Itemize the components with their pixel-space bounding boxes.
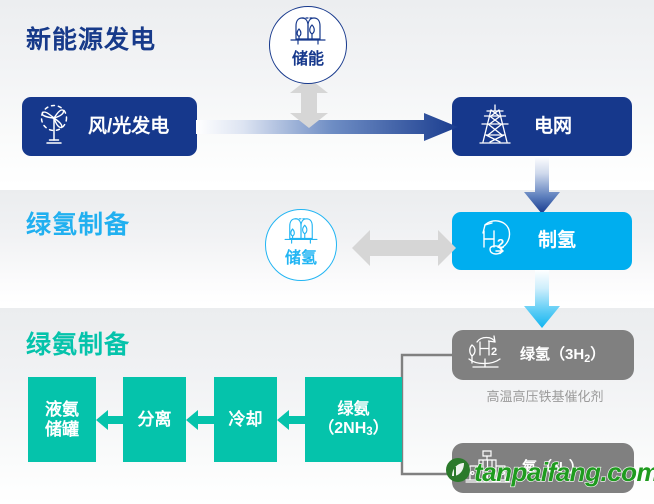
node-wind-solar-generation[interactable]: 风/光发电	[22, 97, 197, 156]
watermark-text: tanpaifang.com	[474, 457, 654, 488]
node-wind-solar-label: 风/光发电	[88, 116, 169, 138]
node-energy-storage-label: 储能	[292, 52, 324, 68]
node-green-ammonia[interactable]: 绿氨 （2NH3）	[305, 377, 402, 462]
node-hydrogen-storage-label: 储氢	[285, 251, 317, 267]
power-pylon-icon	[478, 103, 512, 151]
section-title-ammonia: 绿氨制备	[26, 325, 130, 361]
storage-tank-icon	[282, 215, 320, 250]
green-hydrogen-icon: 2	[464, 333, 510, 377]
arrow-grid-to-hydrogen	[524, 156, 560, 214]
node-power-grid-label: 电网	[534, 116, 572, 138]
node-power-grid[interactable]: 电网	[452, 97, 632, 156]
section-title-power: 新能源发电	[26, 20, 156, 56]
leaf-logo-icon	[445, 457, 471, 488]
node-cooling-label: 冷却	[229, 410, 263, 430]
h2-molecule-icon: 2	[476, 217, 516, 265]
node-hydrogen-production[interactable]: 2 制氢	[452, 212, 632, 270]
arrow-hydrogen-storage-bidirectional	[352, 226, 456, 270]
svg-text:2: 2	[491, 346, 497, 358]
node-separation-label: 分离	[138, 410, 172, 430]
storage-tank-icon	[288, 14, 328, 51]
node-green-ammonia-label: 绿氨 （2NH3）	[318, 401, 388, 438]
section-title-hydrogen: 绿氢制备	[26, 205, 130, 241]
arrow-separation-to-tank	[96, 409, 124, 431]
arrow-grid-storage-bidirectional	[290, 78, 328, 128]
annotation-catalyst: 高温高压铁基催化剂	[452, 386, 638, 405]
arrow-cooling-to-separation	[186, 409, 215, 431]
diagram-canvas: 新能源发电 绿氢制备 绿氨制备 风/光发电	[0, 0, 654, 504]
node-green-hydrogen-label: 绿氢（3H2）	[520, 346, 605, 363]
arrow-hydrogen-to-ammonia	[524, 270, 560, 328]
node-cooling[interactable]: 冷却	[214, 377, 277, 462]
node-hydrogen-production-label: 制氢	[538, 230, 576, 252]
watermark: tanpaifang.com	[445, 457, 654, 488]
arrow-ammonia-to-cooling	[277, 409, 306, 431]
node-liquid-ammonia-tank-label: 液氨储罐	[45, 400, 79, 439]
node-green-hydrogen[interactable]: 2 绿氢（3H2）	[452, 330, 634, 380]
wind-turbine-icon	[38, 104, 76, 150]
node-separation[interactable]: 分离	[123, 377, 186, 462]
node-hydrogen-storage[interactable]: 储氢	[265, 209, 337, 281]
node-energy-storage[interactable]: 储能	[269, 6, 347, 84]
node-liquid-ammonia-tank[interactable]: 液氨储罐	[28, 377, 96, 462]
